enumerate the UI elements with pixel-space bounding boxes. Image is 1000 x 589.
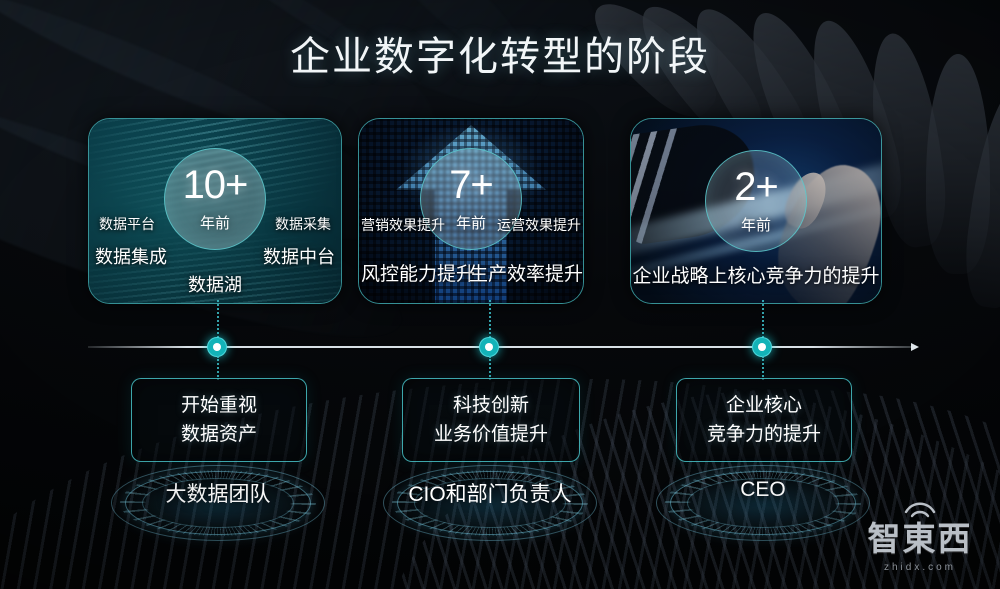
- stage-box-line-1: 开始重视: [181, 391, 257, 420]
- stage-box-line-2: 竞争力的提升: [707, 420, 821, 449]
- role-label: 大数据团队: [107, 478, 329, 508]
- stage-box-line-2: 业务价值提升: [434, 420, 548, 449]
- wifi-signal-icon: [903, 500, 937, 518]
- connector-dashed-up: [489, 300, 491, 338]
- stage-box-1[interactable]: 开始重视 数据资产: [131, 378, 307, 462]
- stage-box-2[interactable]: 科技创新 业务价值提升: [402, 378, 580, 462]
- badge-number: 7+: [449, 165, 493, 205]
- page-title: 企业数字化转型的阶段: [0, 24, 1000, 82]
- role-platform-2: CIO和部门负责人: [379, 460, 601, 546]
- brand-logo[interactable]: 智東西 zhidx.com: [856, 512, 984, 573]
- card-tag: 生产效率提升: [469, 259, 583, 286]
- role-platform-1: 大数据团队: [107, 460, 329, 546]
- badge-number: 10+: [183, 165, 248, 205]
- card-tag: 营销效果提升: [361, 215, 445, 235]
- connector-dashed-up: [217, 300, 219, 338]
- stage-box-line-2: 数据资产: [181, 420, 257, 449]
- role-label: CIO和部门负责人: [379, 478, 601, 508]
- card-tag: 风控能力提升: [361, 259, 475, 286]
- stage-age-badge-3: 2+ 年前: [705, 150, 807, 252]
- timeline-node-3[interactable]: [752, 337, 772, 357]
- connector-dashed-down: [489, 356, 491, 380]
- badge-subtitle: 年前: [200, 212, 230, 233]
- stage-age-badge-1: 10+ 年前: [164, 148, 266, 250]
- timeline-node-1[interactable]: [207, 337, 227, 357]
- card-tag: 数据湖: [188, 271, 242, 297]
- stage-card-2[interactable]: 7+ 年前 营销效果提升 运营效果提升 风控能力提升 生产效率提升: [358, 118, 584, 304]
- stage-card-3[interactable]: 2+ 年前 企业战略上核心竞争力的提升: [630, 118, 882, 304]
- badge-number: 2+: [734, 167, 778, 207]
- card-tag: 运营效果提升: [497, 215, 581, 235]
- stage-box-line-1: 企业核心: [726, 391, 802, 420]
- logo-wordmark: 智東西: [856, 512, 984, 560]
- role-platform-3: CEO: [652, 460, 874, 546]
- logo-url: zhidx.com: [856, 562, 984, 573]
- connector-dashed-down: [762, 356, 764, 380]
- stage-box-3[interactable]: 企业核心 竞争力的提升: [676, 378, 852, 462]
- slide-canvas: 企业数字化转型的阶段 10+ 年前 数据平台 数据集成 数据采集 数据中台 数据…: [0, 0, 1000, 589]
- card-tag: 数据平台: [99, 214, 155, 234]
- stage-box-line-1: 科技创新: [453, 391, 529, 420]
- timeline-node-2[interactable]: [479, 337, 499, 357]
- card-tag: 数据集成: [95, 243, 167, 269]
- role-label: CEO: [652, 478, 874, 502]
- badge-subtitle: 年前: [741, 214, 771, 235]
- card-tag: 数据中台: [263, 243, 335, 269]
- connector-dashed-down: [217, 356, 219, 380]
- badge-subtitle: 年前: [456, 212, 486, 233]
- card-tag: 企业战略上核心竞争力的提升: [632, 261, 879, 288]
- card-tag: 数据采集: [275, 214, 331, 234]
- connector-dashed-up: [762, 300, 764, 338]
- stage-card-1[interactable]: 10+ 年前 数据平台 数据集成 数据采集 数据中台 数据湖: [88, 118, 342, 304]
